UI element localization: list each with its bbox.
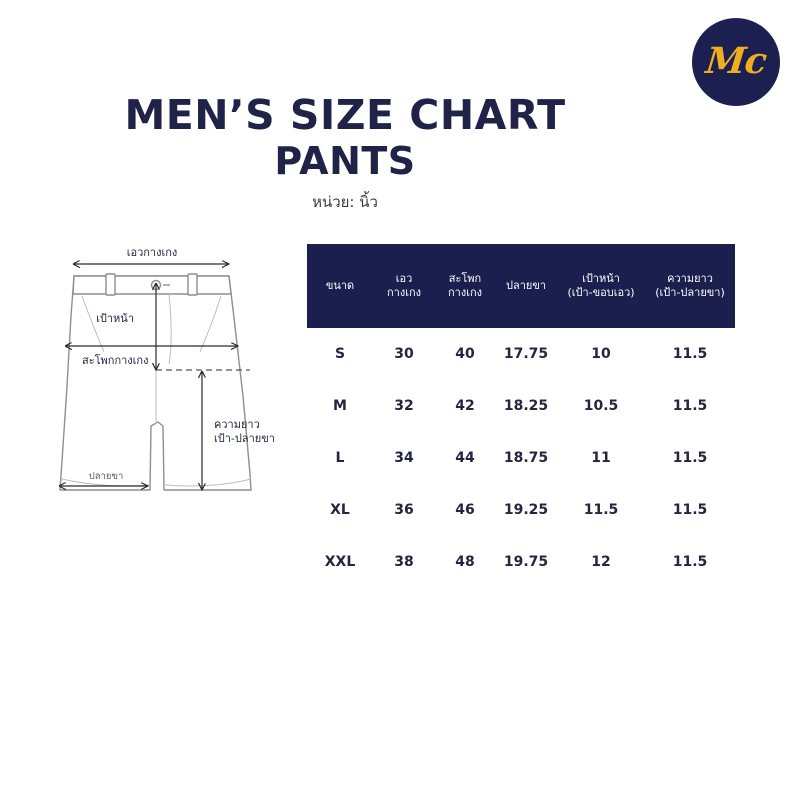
column-header-size: ขนาด (307, 244, 373, 328)
length-label-line2: เป้า-ปลายขา (214, 432, 275, 445)
cell-size: S (307, 328, 373, 380)
front-rise-label: เป้าหน้า (96, 312, 134, 325)
cell-length: 11.5 (645, 484, 735, 536)
unit-note: หน่วย: นิ้ว (0, 190, 690, 214)
belt-loop-right (188, 274, 197, 295)
column-header-leg-opening: ปลายขา (495, 244, 557, 328)
cell-front-rise: 11 (557, 432, 645, 484)
page-subtitle: PANTS (0, 140, 690, 184)
brand-logo: Mc (692, 18, 780, 106)
cell-waist: 38 (373, 536, 435, 588)
cell-leg-opening: 17.75 (495, 328, 557, 380)
cell-waist: 30 (373, 328, 435, 380)
table-row: XL 36 46 19.25 11.5 11.5 (307, 484, 735, 536)
cell-leg-opening: 18.25 (495, 380, 557, 432)
cell-leg-opening: 18.75 (495, 432, 557, 484)
column-header-hip: สะโพก กางเกง (435, 244, 495, 328)
cell-waist: 36 (373, 484, 435, 536)
page-title-block: MEN’S SIZE CHART PANTS หน่วย: นิ้ว (0, 94, 690, 214)
column-header-waist: เอว กางเกง (373, 244, 435, 328)
cell-length: 11.5 (645, 536, 735, 588)
shorts-measurement-diagram: เอวกางเกง เป้าหน้า สะโพกกางเกง ความยาว เ… (22, 246, 302, 508)
cell-front-rise: 11.5 (557, 484, 645, 536)
column-header-front-rise: เป้าหน้า (เป้า-ขอบเอว) (557, 244, 645, 328)
cell-leg-opening: 19.75 (495, 536, 557, 588)
belt-loop-left (106, 274, 115, 295)
length-label-line1: ความยาว (214, 418, 260, 431)
cell-length: 11.5 (645, 380, 735, 432)
mc-wordmark: Mc (704, 43, 768, 79)
table-row: XXL 38 48 19.75 12 11.5 (307, 536, 735, 588)
cell-waist: 32 (373, 380, 435, 432)
cell-front-rise: 10.5 (557, 380, 645, 432)
cell-front-rise: 10 (557, 328, 645, 380)
cell-size: XXL (307, 536, 373, 588)
cell-length: 11.5 (645, 328, 735, 380)
mens-pants-size-table: ขนาด เอว กางเกง สะโพก กางเกง ปลายขา เป้า… (307, 244, 735, 588)
cell-hip: 44 (435, 432, 495, 484)
table-header-row: ขนาด เอว กางเกง สะโพก กางเกง ปลายขา เป้า… (307, 244, 735, 328)
table-body: S 30 40 17.75 10 11.5 M 32 42 18.25 10.5… (307, 328, 735, 588)
cell-hip: 42 (435, 380, 495, 432)
cell-size: XL (307, 484, 373, 536)
cell-leg-opening: 19.25 (495, 484, 557, 536)
cell-size: L (307, 432, 373, 484)
waist-measure-annotation: เอวกางเกง (74, 246, 229, 264)
waist-label: เอวกางเกง (127, 246, 178, 259)
table-header: ขนาด เอว กางเกง สะโพก กางเกง ปลายขา เป้า… (307, 244, 735, 328)
table-row: M 32 42 18.25 10.5 11.5 (307, 380, 735, 432)
leg-opening-label: ปลายขา (89, 471, 124, 482)
cell-hip: 48 (435, 536, 495, 588)
table-row: L 34 44 18.75 11 11.5 (307, 432, 735, 484)
column-header-length: ความยาว (เป้า-ปลายขา) (645, 244, 735, 328)
cell-length: 11.5 (645, 432, 735, 484)
table-row: S 30 40 17.75 10 11.5 (307, 328, 735, 380)
cell-front-rise: 12 (557, 536, 645, 588)
page-title: MEN’S SIZE CHART (0, 94, 690, 137)
hip-label: สะโพกกางเกง (82, 353, 148, 367)
cell-waist: 34 (373, 432, 435, 484)
cell-hip: 40 (435, 328, 495, 380)
cell-hip: 46 (435, 484, 495, 536)
cell-size: M (307, 380, 373, 432)
